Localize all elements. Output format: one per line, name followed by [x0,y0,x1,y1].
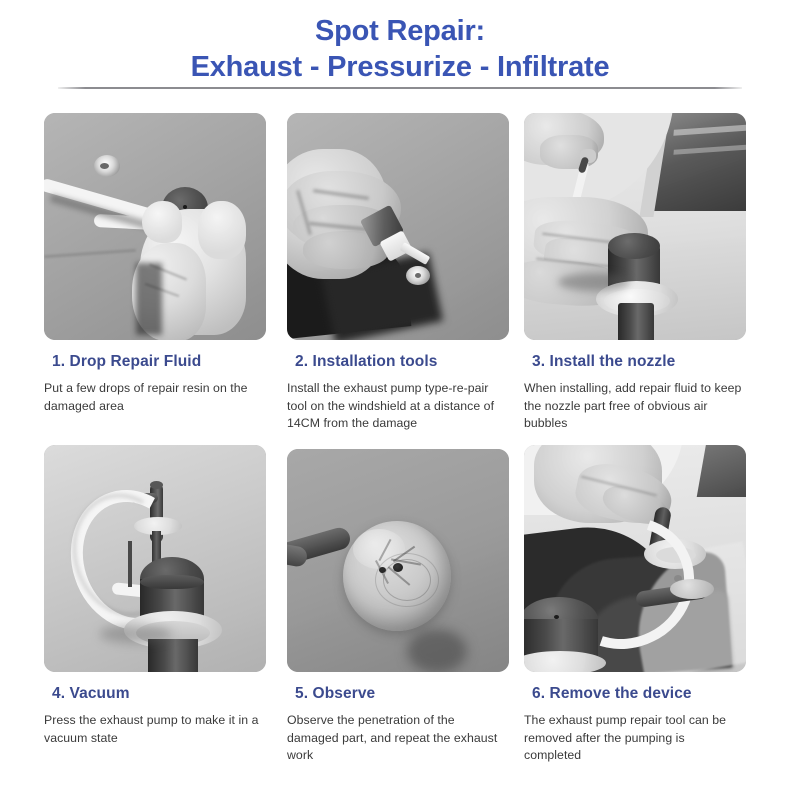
step-title-6: 6. Remove the device [524,685,761,703]
step-title-5: 5. Observe [287,685,524,703]
photo-observe [287,449,509,672]
step-card-1: 1. Drop Repair Fluid Put a few drops of … [44,113,281,415]
step-body-3: When installing, add repair fluid to kee… [524,380,742,433]
step-body-6: The exhaust pump repair tool can be remo… [524,712,742,765]
header-divider [58,87,742,89]
instruction-poster: Spot Repair: Exhaust - Pressurize - Infi… [0,0,800,800]
step-title-1: 1. Drop Repair Fluid [44,353,281,371]
step-body-1: Put a few drops of repair resin on the d… [44,380,262,415]
step-title-4: 4. Vacuum [44,685,281,703]
step-title-2: 2. Installation tools [287,353,524,371]
step-body-5: Observe the penetration of the damaged p… [287,712,505,765]
photo-drop-repair-fluid [44,113,266,340]
photo-installation-tools [287,113,509,340]
photo-install-the-nozzle [524,113,746,340]
step-title-3: 3. Install the nozzle [524,353,761,371]
steps-grid: 1. Drop Repair Fluid Put a few drops of … [0,92,800,800]
page-title-line-1: Spot Repair: [0,14,800,48]
step-body-2: Install the exhaust pump type-re-pair to… [287,380,505,433]
photo-vacuum [44,445,266,672]
step-card-3: 3. Install the nozzle When installing, a… [524,113,761,433]
step-body-4: Press the exhaust pump to make it in a v… [44,712,262,747]
step-card-2: 2. Installation tools Install the exhaus… [287,113,524,433]
photo-remove-the-device [524,445,746,672]
poster-header: Spot Repair: Exhaust - Pressurize - Infi… [0,0,800,92]
step-card-4: 4. Vacuum Press the exhaust pump to make… [44,445,281,747]
step-card-6: 6. Remove the device The exhaust pump re… [524,445,761,765]
step-card-5: 5. Observe Observe the penetration of th… [287,445,524,765]
page-title-line-2: Exhaust - Pressurize - Infiltrate [0,50,800,84]
